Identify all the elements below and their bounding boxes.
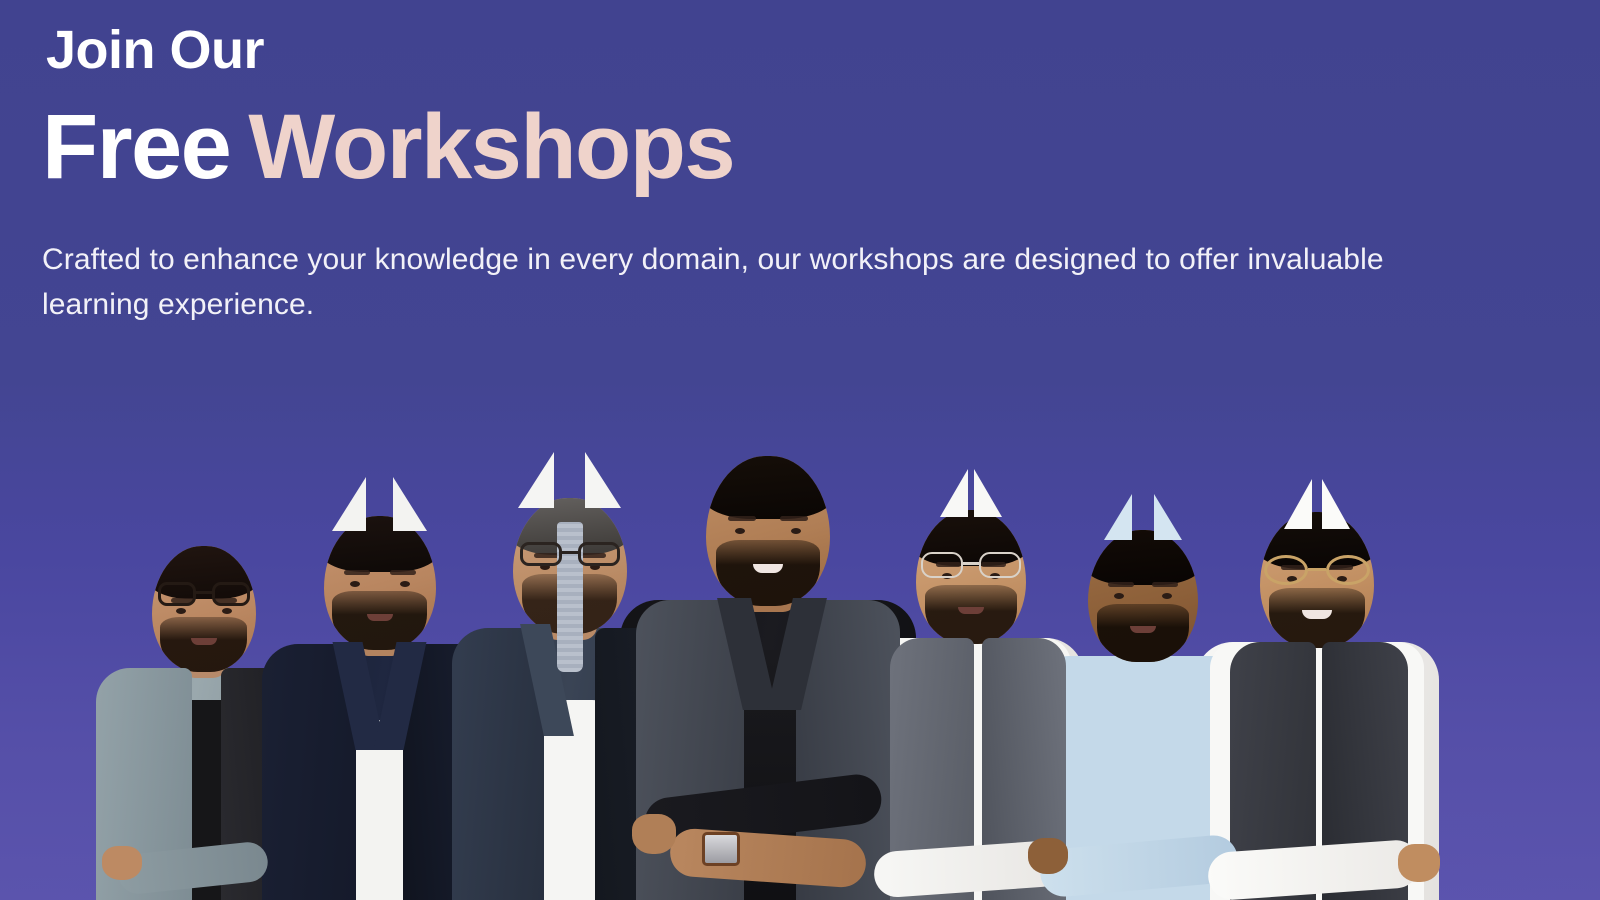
person-1-glasses-icon bbox=[156, 580, 252, 608]
person-2-head bbox=[324, 516, 436, 650]
group-photo bbox=[0, 430, 1600, 900]
person-1-head bbox=[152, 546, 256, 672]
person-4-watch bbox=[702, 832, 740, 866]
person-7 bbox=[1192, 485, 1442, 900]
hero-eyebrow: Join Our bbox=[42, 22, 1542, 79]
hero-subcopy: Crafted to enhance your knowledge in eve… bbox=[42, 237, 1497, 328]
person-6-head bbox=[1088, 530, 1198, 662]
page-title: FreeWorkshops bbox=[42, 101, 1542, 195]
person-5-glasses-icon bbox=[920, 550, 1022, 580]
headline-word-free: Free bbox=[42, 96, 230, 198]
person-7-glasses-icon bbox=[1264, 554, 1370, 586]
hero-copy: Join Our FreeWorkshops Crafted to enhanc… bbox=[42, 22, 1542, 328]
person-4-head bbox=[706, 456, 830, 606]
headline-word-workshops: Workshops bbox=[248, 96, 734, 198]
hero-banner: Join Our FreeWorkshops Crafted to enhanc… bbox=[0, 0, 1600, 900]
person-3-glasses-icon bbox=[518, 540, 622, 568]
